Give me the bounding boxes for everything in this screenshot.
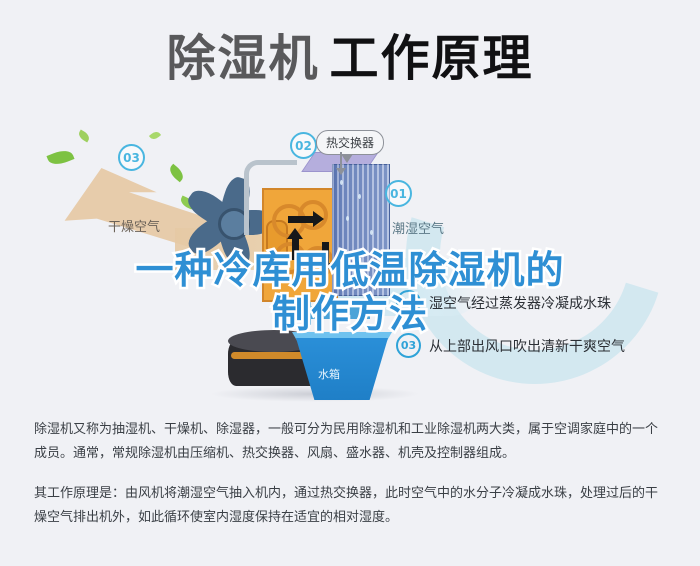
step-badge: 03 [396,333,421,358]
step-text: 从上部出风口吹出清新干爽空气 [429,336,625,356]
humid-air-label: 潮湿空气 [392,218,444,237]
paragraph-2: 其工作原理是：由风机将潮湿空气抽入机内，通过热交换器，此时空气中的水分子冷凝成水… [34,482,668,530]
leaf-icon [77,130,91,143]
callout-badge-03: 03 [118,144,145,171]
paragraph-1: 除湿机又称为抽湿机、干燥机、除湿器，一般可分为民用除湿机和工业除湿机两大类，属于… [34,418,668,466]
step-badge: 02 [396,290,421,315]
dehumidifier-internals [262,146,394,316]
dry-air-label: 干燥空气 [108,216,160,235]
leaf-icon [149,130,161,142]
callout-pointer-icon [340,152,342,170]
flow-arrow-down-icon [322,242,329,264]
illustration-stage: 水箱 03 02 01 热交换器 干燥空气 潮湿空气 02 湿空气经过蒸发器冷凝… [0,108,700,404]
heat-exchanger-callout-bubble: 热交换器 [316,130,384,155]
step-item: 03 从上部出风口吹出清新干爽空气 [396,333,696,358]
callout-badge-01: 01 [385,180,412,207]
infographic-page: 除湿机 工作原理 [0,0,700,566]
page-title-black: 工作原理 [330,34,534,83]
step-item: 02 湿空气经过蒸发器冷凝成水珠 [396,290,696,315]
page-title: 除湿机 工作原理 [0,22,700,94]
step-list: 02 湿空气经过蒸发器冷凝成水珠 03 从上部出风口吹出清新干爽空气 [396,290,696,376]
condenser-coil [262,188,338,302]
leaf-icon [46,147,74,168]
step-text: 湿空气经过蒸发器冷凝成水珠 [429,293,611,313]
flow-arrow-right-icon [288,216,314,223]
callout-badge-02: 02 [290,132,317,159]
flow-arrow-up-icon [292,238,299,260]
humid-air-swoosh [361,81,700,430]
page-title-gray: 除湿机 [166,34,319,83]
body-text: 除湿机又称为抽湿机、干燥机、除湿器，一般可分为民用除湿机和工业除湿机两大类，属于… [34,418,668,546]
heat-exchanger [332,164,390,296]
water-tank-label: 水箱 [318,366,340,382]
